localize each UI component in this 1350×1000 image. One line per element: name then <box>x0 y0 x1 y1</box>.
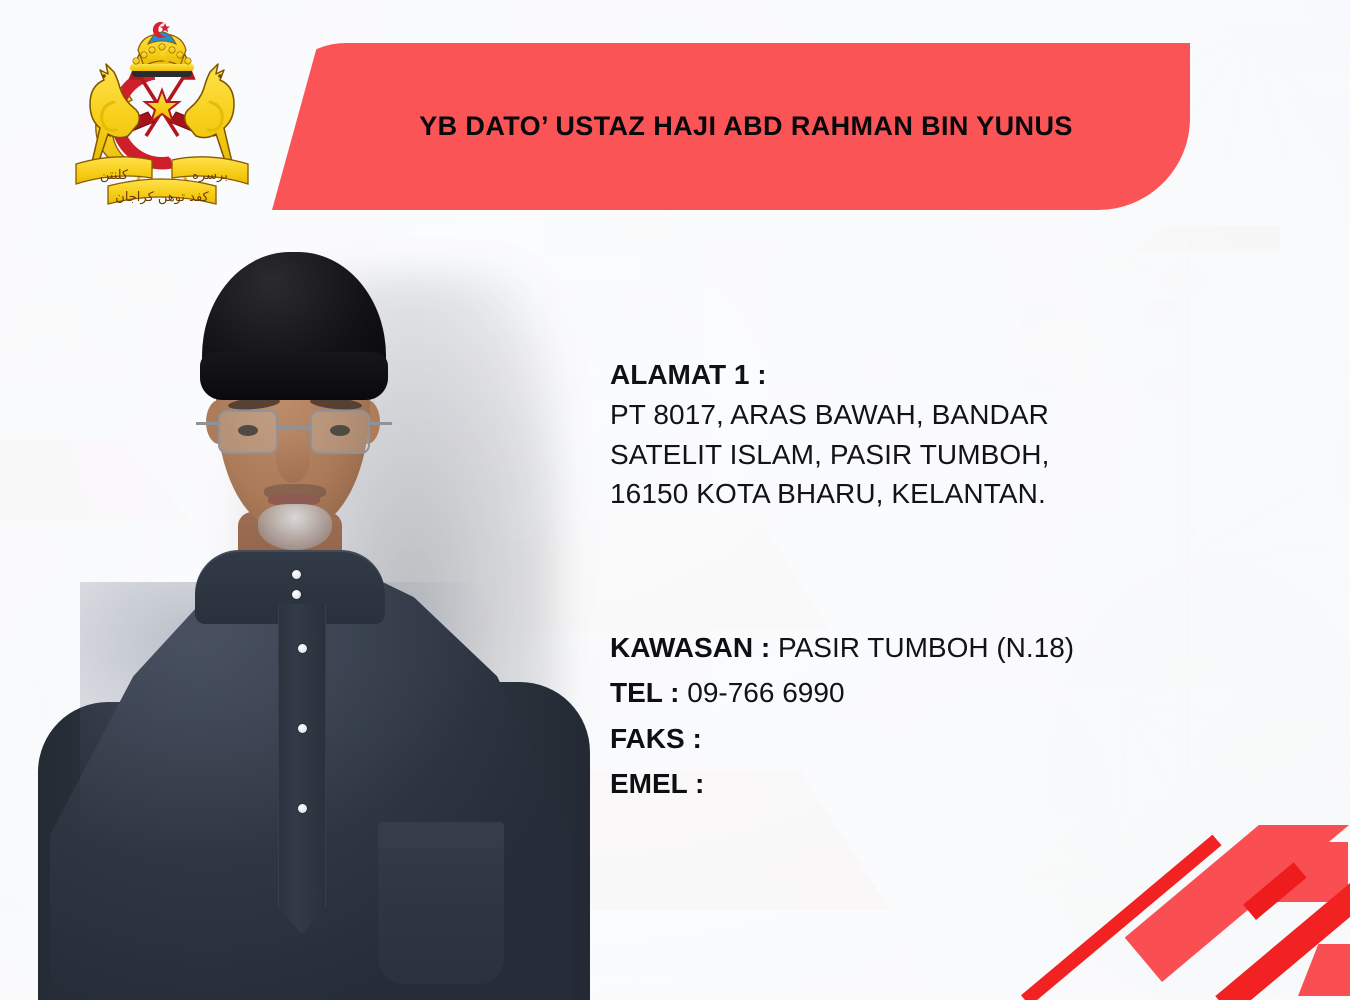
contact-row-tel: TEL : 09-766 6990 <box>610 670 1230 715</box>
svg-text:كفد توهن كراجان: كفد توهن كراجان <box>115 190 209 205</box>
cornice-right <box>1130 252 1300 266</box>
svg-text:برسره: برسره <box>192 168 228 183</box>
page-title: YB DATO’ USTAZ HAJI ABD RAHMAN BIN YUNUS <box>379 111 1083 142</box>
portrait-fade <box>20 932 580 1000</box>
official-portrait <box>20 232 580 1000</box>
title-banner: YB DATO’ USTAZ HAJI ABD RAHMAN BIN YUNUS <box>272 43 1190 210</box>
tel-value: 09-766 6990 <box>687 677 844 708</box>
contact-row-faks: FAKS : <box>610 716 1230 761</box>
goatee <box>258 504 332 550</box>
shirt-placket <box>278 604 326 934</box>
shirt-button <box>298 724 307 733</box>
corner-stripes-decoration <box>1020 825 1350 1000</box>
contact-row-kawasan: KAWASAN : PASIR TUMBOH (N.18) <box>610 625 1230 670</box>
faks-label: FAKS : <box>610 723 702 754</box>
address-line-2: SATELIT ISLAM, PASIR TUMBOH, <box>610 435 1210 475</box>
address-line-1: PT 8017, ARAS BAWAH, BANDAR <box>610 395 1210 435</box>
window <box>1150 300 1190 328</box>
roof-right <box>1130 226 1280 258</box>
shirt-button <box>292 590 301 599</box>
eyeglasses-icon <box>216 410 372 456</box>
address-block: ALAMAT 1 : PT 8017, ARAS BAWAH, BANDAR S… <box>610 355 1210 514</box>
pocket-flap <box>378 822 504 848</box>
contact-block: KAWASAN : PASIR TUMBOH (N.18) TEL : 09-7… <box>610 625 1230 806</box>
shirt-button <box>298 644 307 653</box>
shirt-button <box>298 804 307 813</box>
tel-label: TEL : <box>610 677 679 708</box>
kawasan-label: KAWASAN : <box>610 632 770 663</box>
svg-text:كلنتن: كلنتن <box>100 168 129 183</box>
window <box>628 300 682 334</box>
window <box>1020 300 1060 328</box>
emel-label: EMEL : <box>610 768 704 799</box>
state-crest-icon: كلنتن برسره كفد توهن كراجان <box>52 14 272 210</box>
kawasan-value: PASIR TUMBOH (N.18) <box>778 632 1074 663</box>
info-card: YB DATO’ USTAZ HAJI ABD RAHMAN BIN YUNUS <box>0 0 1350 1000</box>
songkok-brim <box>200 352 388 400</box>
shirt-button <box>292 570 301 579</box>
address-line-3: 16150 KOTA BHARU, KELANTAN. <box>610 474 1210 514</box>
contact-row-emel: EMEL : <box>610 761 1230 806</box>
address-label: ALAMAT 1 : <box>610 355 1210 395</box>
